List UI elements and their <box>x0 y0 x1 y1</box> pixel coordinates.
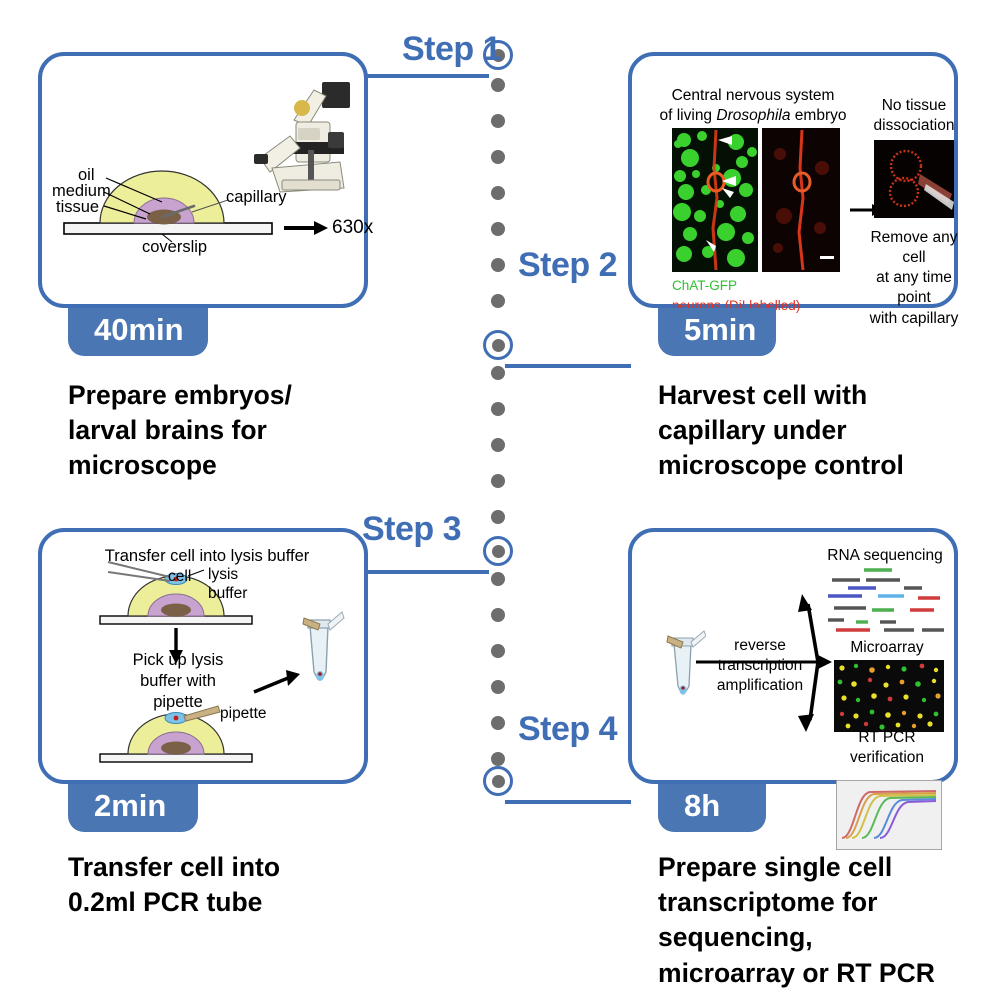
label-tissue: tissue <box>56 198 99 217</box>
timeline-dot <box>491 474 505 488</box>
micrograph-title: Central nervous systemof living Drosophi… <box>642 86 864 126</box>
duration-badge-step-4: 8h <box>658 784 766 832</box>
legend-chat-gfp: ChAT-GFP <box>672 278 737 293</box>
timeline-node-step-2[interactable] <box>483 330 513 360</box>
coverslip-bottom-shape <box>100 754 252 762</box>
arrow-to-rna-seq-icon <box>798 594 818 662</box>
duration-badge-step-1: 40min <box>68 308 208 356</box>
arrow-to-rtpcr-icon <box>798 662 818 732</box>
micrograph-capillary-cell <box>874 140 954 218</box>
microscope-icon <box>252 76 362 206</box>
timeline-dot <box>491 186 505 200</box>
pick-up-lysis-text: Pick up lysis buffer with pipette <box>102 650 254 713</box>
remove-any-cell-text: Remove any cell at any time point with c… <box>860 228 968 329</box>
timeline-dot <box>491 752 505 766</box>
label-magnification: 630x <box>332 217 373 239</box>
timeline-dot <box>491 438 505 452</box>
timeline-dot <box>491 294 505 308</box>
pcr-tube-icon <box>294 610 346 702</box>
duration-badge-step-2: 5min <box>658 308 776 356</box>
panel-step-2: Central nervous systemof living Drosophi… <box>628 52 958 308</box>
connector-step-2 <box>505 364 631 368</box>
label-coverslip: coverslip <box>142 238 207 257</box>
step-1-artwork: oil medium tissue capillary coverslip 63… <box>42 56 364 304</box>
caption-step-1: Prepare embryos/ larval brains for micro… <box>68 378 398 484</box>
capillary-line-a <box>108 562 170 577</box>
timeline-dot <box>491 644 505 658</box>
timeline-dot <box>491 114 505 128</box>
label-pipette: pipette <box>220 705 267 724</box>
panel-step-3: Transfer cell into lysis buffer <box>38 528 368 784</box>
timeline-dot <box>491 608 505 622</box>
timeline <box>485 48 511 788</box>
timeline-node-step-3[interactable] <box>483 536 513 566</box>
step-label-2: Step 2 <box>518 246 617 285</box>
step-2-artwork: Central nervous systemof living Drosophi… <box>632 56 954 304</box>
timeline-dot <box>491 510 505 524</box>
step-3-artwork: Transfer cell into lysis buffer <box>42 532 364 780</box>
no-tissue-dissociation-text: No tissue dissociation <box>868 96 960 136</box>
timeline-dot <box>491 366 505 380</box>
figure-canvas: Step 1 Step 2 Step 3 Step 4 <box>0 0 996 996</box>
tissue-core-bottom-shape <box>161 742 191 755</box>
output-label-microarray: Microarray <box>822 638 952 658</box>
label-cell: cell <box>168 568 191 587</box>
connector-step-1 <box>364 74 489 78</box>
step-label-4: Step 4 <box>518 710 617 749</box>
connector-step-4 <box>505 800 631 804</box>
timeline-dot <box>491 716 505 730</box>
timeline-dot <box>491 78 505 92</box>
connector-step-3 <box>364 570 489 574</box>
caption-step-2: Harvest cell with capillary under micros… <box>658 378 988 484</box>
coverslip-top-shape <box>100 616 252 624</box>
duration-badge-step-3: 2min <box>68 784 198 832</box>
micrograph-dii-only <box>762 128 840 272</box>
magnification-arrow-icon <box>284 221 328 235</box>
step-4-artwork: reverse transcription amplification RNA … <box>632 532 954 780</box>
panel-step-1: oil medium tissue capillary coverslip 63… <box>38 52 368 308</box>
caption-step-3: Transfer cell into 0.2ml PCR tube <box>68 850 408 920</box>
timeline-dot <box>491 222 505 236</box>
output-label-rt-pcr: RT PCR verification <box>822 728 952 768</box>
micrograph-gfp-dii <box>672 128 758 272</box>
panel-step-4: reverse transcription amplification RNA … <box>628 528 958 784</box>
capillary-line-b <box>108 572 170 581</box>
microarray-icon <box>834 660 944 732</box>
timeline-dot <box>491 402 505 416</box>
timeline-dot <box>491 150 505 164</box>
timeline-dot <box>491 680 505 694</box>
timeline-dot <box>491 572 505 586</box>
step-label-1: Step 1 <box>402 30 501 69</box>
label-lysis-buffer: lysis buffer <box>208 566 247 603</box>
step-label-3: Step 3 <box>362 510 461 549</box>
output-label-rna-sequencing: RNA sequencing <box>810 546 960 566</box>
cell-dot-bottom <box>174 716 179 721</box>
coverslip-shape <box>64 223 272 234</box>
caption-step-4: Prepare single cell transcriptome for se… <box>658 850 996 991</box>
timeline-dot <box>491 258 505 272</box>
tissue-core-top-shape <box>161 604 191 617</box>
timeline-node-step-4[interactable] <box>483 766 513 796</box>
rtpcr-curves-icon <box>836 780 942 850</box>
rna-read-pileup-icon <box>822 566 952 638</box>
